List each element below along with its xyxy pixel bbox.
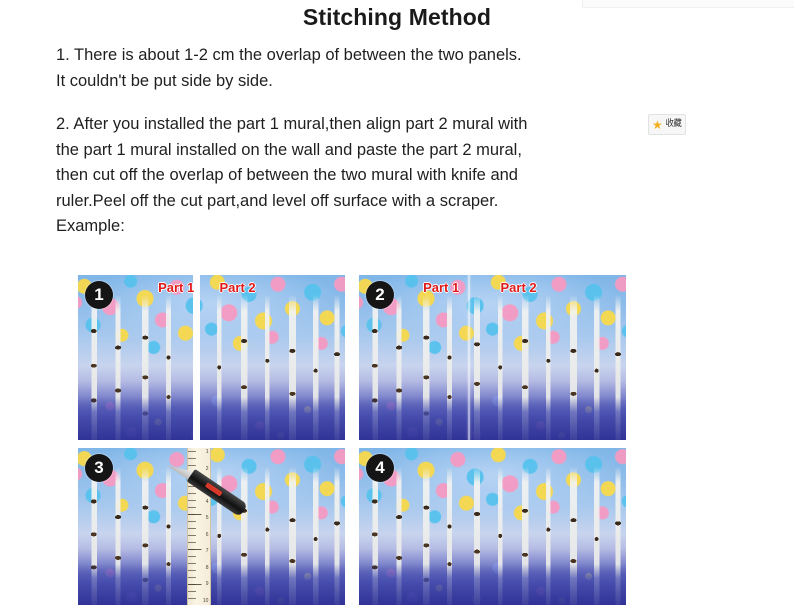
page-title: Stitching Method — [0, 4, 794, 31]
instruction-line: It couldn't be put side by side. — [56, 69, 696, 95]
instruction-step-2: 2. After you installed the part 1 mural,… — [56, 112, 696, 240]
step-number-badge: 4 — [366, 454, 394, 482]
ruler-number: 1 — [206, 449, 209, 455]
favorite-button[interactable]: ★ 收藏 — [648, 114, 686, 135]
instruction-step-1: 1. There is about 1-2 cm the overlap of … — [56, 43, 696, 94]
ruler-number: 5 — [206, 515, 209, 521]
instruction-line: Example: — [56, 214, 696, 240]
ruler-number: 9 — [206, 581, 209, 587]
part-1-label: Part 1 — [423, 280, 459, 295]
mural-ground — [78, 564, 345, 605]
instruction-line: ruler.Peel off the cut part,and level of… — [56, 189, 696, 215]
ruler-number: 6 — [206, 532, 209, 538]
favorite-button-label: 收藏 — [665, 120, 681, 129]
star-icon: ★ — [652, 119, 663, 131]
part-1-label: Part 1 — [158, 280, 194, 295]
ruler-number: 10 — [203, 598, 209, 604]
instruction-line: 1. There is about 1-2 cm the overlap of … — [56, 43, 696, 69]
part-2-label: Part 2 — [220, 280, 256, 295]
panel-separation-gap — [193, 275, 200, 440]
instruction-line: then cut off the overlap of between the … — [56, 163, 696, 189]
figure-panel-1: 1 Part 1 Part 2 — [78, 275, 345, 440]
paragraph-spacer — [56, 94, 696, 112]
step-number-badge: 3 — [85, 454, 113, 482]
ruler-number: 7 — [206, 548, 209, 554]
ruler-number: 4 — [206, 499, 209, 505]
ruler-numbers: 1 2 3 4 5 6 7 8 9 10 — [203, 448, 209, 605]
part-2-label: Part 2 — [501, 280, 537, 295]
mural-ground — [359, 397, 626, 440]
step-number-badge: 1 — [85, 281, 113, 309]
ruler-number: 2 — [206, 466, 209, 472]
instruction-line: the part 1 mural installed on the wall a… — [56, 138, 696, 164]
example-figure-grid: 1 Part 1 Part 2 2 Part 1 Part 2 1 2 3 4 — [78, 275, 626, 605]
mural-ground — [359, 564, 626, 605]
figure-panel-3: 1 2 3 4 5 6 7 8 9 10 3 — [78, 448, 345, 605]
overlap-seam-line — [468, 275, 470, 440]
step-number-badge: 2 — [366, 281, 394, 309]
mural-ground — [78, 397, 345, 440]
figure-panel-2: 2 Part 1 Part 2 — [359, 275, 626, 440]
figure-panel-4: 4 — [359, 448, 626, 605]
instruction-line: 2. After you installed the part 1 mural,… — [56, 112, 696, 138]
instructions-body: 1. There is about 1-2 cm the overlap of … — [56, 43, 696, 240]
ruler-number: 8 — [206, 565, 209, 571]
